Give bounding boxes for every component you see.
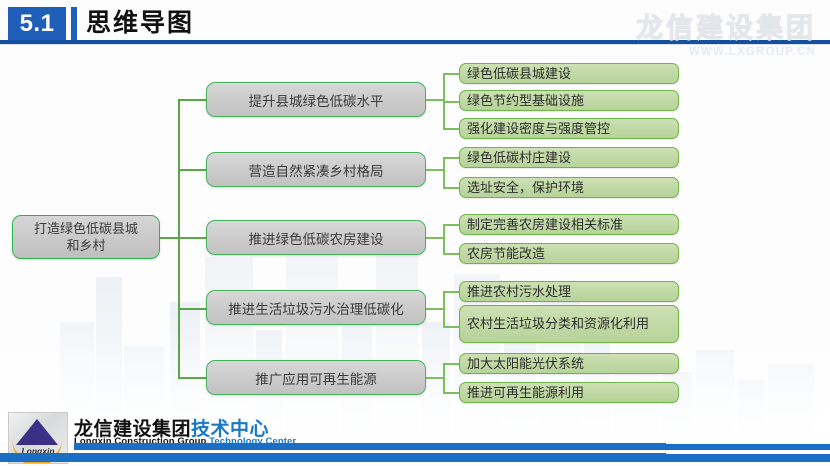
connector-branch-3-spine (443, 224, 445, 254)
footer-bar-upper (74, 443, 666, 450)
mindmap-leaf-node-2-1[interactable]: 绿色低碳村庄建设 (459, 147, 679, 168)
mindmap-leaf-label-3-2: 农房节能改造 (460, 246, 552, 262)
connector-branch-2-stub (426, 169, 444, 171)
mindmap-leaf-label-5-1: 加大太阳能光伏系统 (460, 356, 591, 372)
mindmap-leaf-label-5-2: 推进可再生能源利用 (460, 385, 591, 401)
mindmap-branch-label-1: 提升县城绿色低碳水平 (249, 90, 384, 110)
connector-branch-1-child-1 (443, 73, 459, 75)
mindmap-leaf-label-4-1: 推进农村污水处理 (460, 284, 578, 300)
mindmap-branch-node-1[interactable]: 提升县城绿色低碳水平 (206, 82, 426, 117)
mindmap-root-label-line1: 打造绿色低碳县城 (34, 220, 138, 237)
mindmap-branch-node-4[interactable]: 推进生活垃圾污水治理低碳化 (206, 290, 426, 325)
header-rule-secondary (0, 44, 830, 45)
connector-branch-3-child-2 (443, 253, 459, 255)
mindmap-leaf-label-4-2: 农村生活垃圾分类和资源化利用 (460, 316, 656, 332)
brand-watermark-url: WWW.LXGROUP.CN (636, 46, 816, 58)
mindmap-leaf-node-1-1[interactable]: 绿色低碳县城建设 (459, 63, 679, 84)
mindmap-leaf-node-1-3[interactable]: 强化建设密度与强度管控 (459, 118, 679, 139)
connector-branch-3-child-1 (443, 224, 459, 226)
connector-branch-4-stub (426, 308, 444, 310)
mindmap-leaf-node-5-1[interactable]: 加大太阳能光伏系统 (459, 353, 679, 374)
mindmap-branch-label-3: 推进绿色低碳农房建设 (249, 228, 384, 248)
connector-branch-2-child-2 (443, 187, 459, 189)
section-number-badge: 5.1 (8, 7, 66, 40)
connector-trunk-to-branch-4 (178, 308, 206, 310)
mindmap-leaf-label-1-1: 绿色低碳县城建设 (460, 66, 578, 82)
connector-branch-1-child-2 (443, 101, 459, 103)
mindmap-leaf-node-5-2[interactable]: 推进可再生能源利用 (459, 382, 679, 403)
mindmap-leaf-node-3-1[interactable]: 制定完善农房建设相关标准 (459, 214, 679, 235)
mindmap-leaf-node-3-2[interactable]: 农房节能改造 (459, 243, 679, 264)
mindmap-leaf-node-1-2[interactable]: 绿色节约型基础设施 (459, 90, 679, 111)
connector-branch-4-child-2 (443, 326, 459, 328)
connector-branch-1-stub (426, 99, 444, 101)
mindmap-leaf-label-2-1: 绿色低碳村庄建设 (460, 150, 578, 166)
connector-branch-2-spine (443, 157, 445, 188)
connector-branch-4-spine (443, 291, 445, 327)
mindmap-branch-label-2: 营造自然紧凑乡村格局 (249, 160, 384, 180)
connector-branch-3-stub (426, 237, 444, 239)
connector-trunk-to-branch-3 (178, 237, 206, 239)
slide-header: 5.1 思维导图 (0, 0, 830, 46)
mindmap-leaf-node-4-2[interactable]: 农村生活垃圾分类和资源化利用 (459, 305, 679, 343)
mindmap-branch-label-4: 推进生活垃圾污水治理低碳化 (228, 298, 404, 318)
mindmap-branch-label-5: 推广应用可再生能源 (255, 368, 377, 388)
connector-branch-5-child-1 (443, 363, 459, 365)
connector-branch-5-stub (426, 377, 444, 379)
connector-branch-4-child-1 (443, 291, 459, 293)
footer-bar-upper-right (666, 444, 830, 450)
mindmap-leaf-node-4-1[interactable]: 推进农村污水处理 (459, 281, 679, 302)
mindmap-leaf-label-1-2: 绿色节约型基础设施 (460, 93, 591, 109)
connector-trunk-to-branch-5 (178, 377, 206, 379)
footer-bar-lower (0, 453, 666, 462)
mindmap-leaf-node-2-2[interactable]: 选址安全，保护环境 (459, 177, 679, 198)
connector-branch-2-child-1 (443, 157, 459, 159)
connector-trunk-to-branch-1 (178, 99, 206, 101)
page-title: 思维导图 (86, 6, 194, 40)
connector-root-stub (160, 237, 180, 239)
mindmap-root-node[interactable]: 打造绿色低碳县城 和乡村 (12, 215, 160, 259)
connector-branch-5-spine (443, 363, 445, 393)
mindmap-branch-node-5[interactable]: 推广应用可再生能源 (206, 360, 426, 395)
footer-bar-lower-right (666, 454, 830, 462)
slide-canvas: 5.1 思维导图 龙信建设集团 WWW.LXGROUP.CN (0, 0, 830, 466)
mindmap-branch-node-3[interactable]: 推进绿色低碳农房建设 (206, 220, 426, 255)
connector-trunk-to-branch-2 (178, 169, 206, 171)
connector-branch-5-child-2 (443, 392, 459, 394)
mindmap-leaf-label-2-2: 选址安全，保护环境 (460, 180, 591, 196)
connector-branch-1-child-3 (443, 128, 459, 130)
mindmap-leaf-label-1-3: 强化建设密度与强度管控 (460, 121, 617, 137)
mindmap-leaf-label-3-1: 制定完善农房建设相关标准 (460, 217, 630, 233)
header-divider-bar (71, 7, 77, 40)
mindmap-branch-node-2[interactable]: 营造自然紧凑乡村格局 (206, 152, 426, 187)
mindmap-root-label-line2: 和乡村 (66, 237, 105, 254)
